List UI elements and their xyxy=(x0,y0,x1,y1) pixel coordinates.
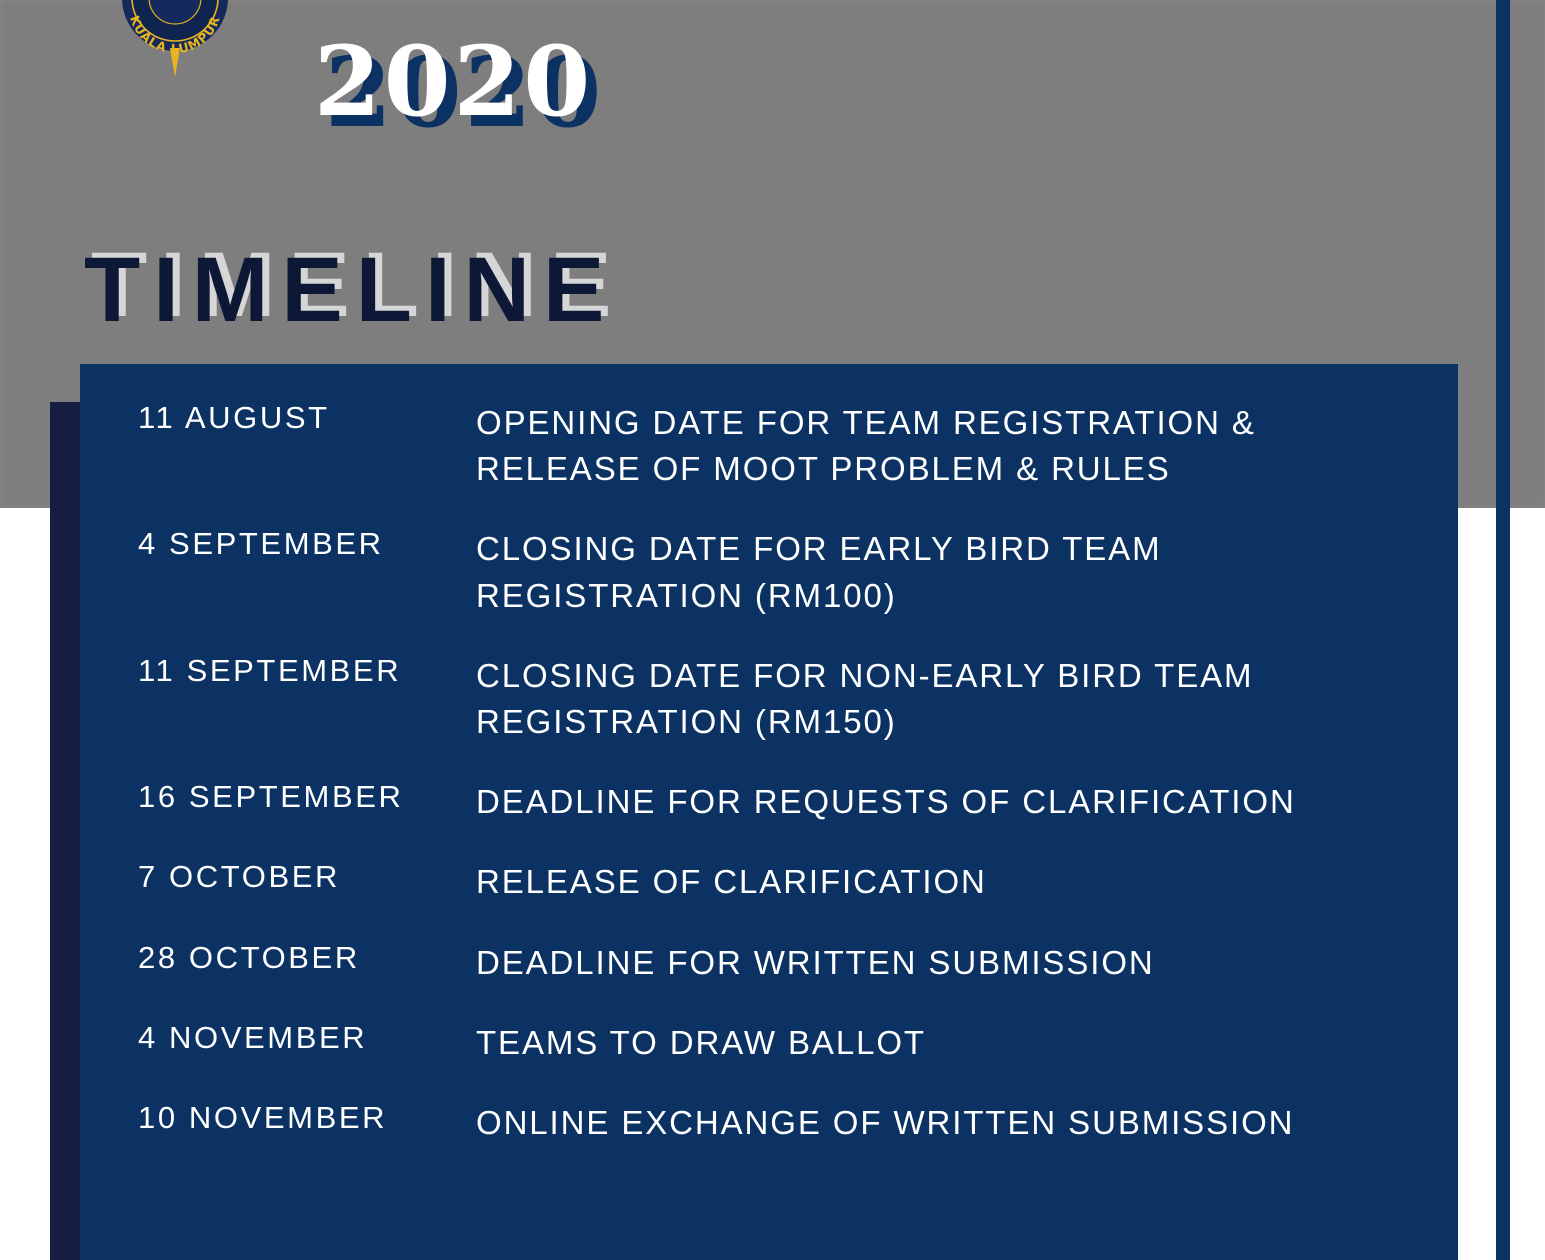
table-row: 16 SEPTEMBER DEADLINE FOR REQUESTS OF CL… xyxy=(80,779,1458,825)
table-row: 10 NOVEMBER ONLINE EXCHANGE OF WRITTEN S… xyxy=(80,1100,1458,1146)
table-row: 4 SEPTEMBER CLOSING DATE FOR EARLY BIRD … xyxy=(80,526,1458,618)
row-description: TEAMS TO DRAW BALLOT xyxy=(476,1020,1428,1066)
table-row: 11 SEPTEMBER CLOSING DATE FOR NON-EARLY … xyxy=(80,653,1458,745)
row-description: CLOSING DATE FOR NON-EARLY BIRD TEAM REG… xyxy=(476,653,1428,745)
timeline-poster: KUALA LUMPUR 2020 TIMELINE 11 AUGUST OPE… xyxy=(0,0,1545,1260)
timeline-row-list: 11 AUGUST OPENING DATE FOR TEAM REGISTRA… xyxy=(80,400,1458,1180)
row-description: OPENING DATE FOR TEAM REGISTRATION & REL… xyxy=(476,400,1428,492)
table-row: 28 OCTOBER DEADLINE FOR WRITTEN SUBMISSI… xyxy=(80,940,1458,986)
row-description: RELEASE OF CLARIFICATION xyxy=(476,859,1428,905)
row-date: 11 SEPTEMBER xyxy=(138,653,476,690)
row-description: CLOSING DATE FOR EARLY BIRD TEAM REGISTR… xyxy=(476,526,1428,618)
table-row: 4 NOVEMBER TEAMS TO DRAW BALLOT xyxy=(80,1020,1458,1066)
timeline-card: 11 AUGUST OPENING DATE FOR TEAM REGISTRA… xyxy=(80,364,1458,1260)
right-vertical-rule xyxy=(1496,0,1510,1260)
year-heading: 2020 xyxy=(314,34,593,130)
row-date: 28 OCTOBER xyxy=(138,940,476,977)
row-description: DEADLINE FOR WRITTEN SUBMISSION xyxy=(476,940,1428,986)
row-description: ONLINE EXCHANGE OF WRITTEN SUBMISSION xyxy=(476,1100,1428,1146)
table-row: 7 OCTOBER RELEASE OF CLARIFICATION xyxy=(80,859,1458,905)
row-description: DEADLINE FOR REQUESTS OF CLARIFICATION xyxy=(476,779,1428,825)
page-title: TIMELINE xyxy=(84,244,617,336)
kuala-lumpur-badge-icon: KUALA LUMPUR xyxy=(104,0,246,78)
row-date: 10 NOVEMBER xyxy=(138,1100,476,1137)
table-row: 11 AUGUST OPENING DATE FOR TEAM REGISTRA… xyxy=(80,400,1458,492)
row-date: 16 SEPTEMBER xyxy=(138,779,476,816)
row-date: 4 SEPTEMBER xyxy=(138,526,476,563)
row-date: 11 AUGUST xyxy=(138,400,476,437)
row-date: 4 NOVEMBER xyxy=(138,1020,476,1057)
row-date: 7 OCTOBER xyxy=(138,859,476,896)
